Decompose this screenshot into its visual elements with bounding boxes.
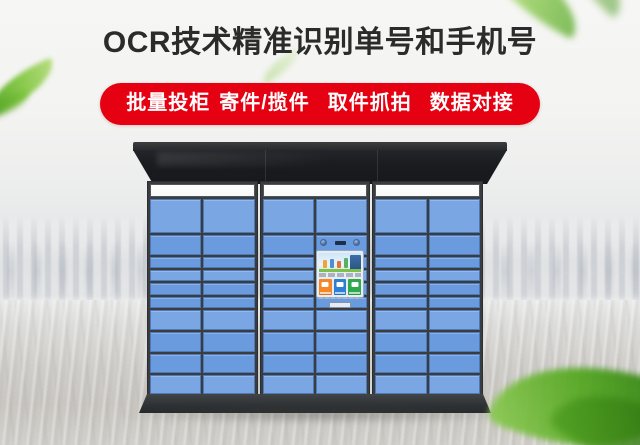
locker-door[interactable] bbox=[375, 354, 426, 373]
locker-door-column bbox=[375, 199, 426, 394]
screen-banner-image bbox=[319, 253, 361, 272]
camera-icon-right bbox=[353, 239, 360, 246]
locker-door[interactable] bbox=[429, 283, 480, 294]
camera-icon-left bbox=[320, 239, 327, 246]
screen-button[interactable] bbox=[319, 279, 332, 295]
screen-action-buttons bbox=[319, 279, 361, 295]
banner-grass bbox=[319, 269, 361, 272]
locker-door[interactable] bbox=[375, 270, 426, 281]
parcel-icon bbox=[322, 282, 329, 287]
screen-button-label bbox=[335, 292, 346, 294]
locker-door[interactable] bbox=[203, 270, 254, 281]
locker-door[interactable] bbox=[263, 332, 314, 352]
locker-door[interactable] bbox=[316, 332, 367, 352]
locker-door[interactable] bbox=[429, 270, 480, 281]
locker-door[interactable] bbox=[429, 354, 480, 373]
banner-figure-d bbox=[344, 258, 348, 268]
locker-door[interactable] bbox=[375, 283, 426, 294]
kiosk-touchscreen[interactable] bbox=[316, 250, 364, 298]
locker-door[interactable] bbox=[150, 297, 201, 308]
locker-door[interactable] bbox=[150, 270, 201, 281]
screen-button-label bbox=[349, 292, 360, 294]
locker-door[interactable] bbox=[316, 310, 367, 330]
locker-door-column bbox=[150, 199, 201, 394]
locker-body bbox=[147, 181, 483, 396]
locker-door[interactable] bbox=[263, 257, 314, 268]
locker-door[interactable] bbox=[203, 310, 254, 330]
screen-footer-text bbox=[319, 297, 361, 299]
locker-door[interactable] bbox=[203, 235, 254, 255]
locker-door[interactable] bbox=[203, 375, 254, 394]
locker-door[interactable] bbox=[150, 332, 201, 352]
locker-door[interactable] bbox=[203, 283, 254, 294]
locker-header-panel bbox=[375, 184, 480, 197]
locker-door[interactable] bbox=[316, 354, 367, 373]
locker-door[interactable] bbox=[375, 199, 426, 233]
locker-canopy bbox=[133, 142, 507, 184]
locker-door[interactable] bbox=[375, 235, 426, 255]
locker-door[interactable] bbox=[375, 310, 426, 330]
locker-kiosk[interactable] bbox=[316, 238, 364, 310]
locker-door[interactable] bbox=[150, 199, 201, 233]
locker-door[interactable] bbox=[429, 332, 480, 352]
screen-button[interactable] bbox=[334, 279, 347, 295]
locker-door[interactable] bbox=[429, 310, 480, 330]
banner-figure-c bbox=[337, 261, 341, 268]
locker-door[interactable] bbox=[263, 375, 314, 394]
locker-header-panel bbox=[150, 184, 255, 197]
locker-door[interactable] bbox=[263, 310, 314, 330]
locker-door-grid bbox=[150, 199, 255, 394]
locker-shadow bbox=[120, 408, 520, 424]
locker-door[interactable] bbox=[203, 257, 254, 268]
locker-door[interactable] bbox=[375, 257, 426, 268]
locker-door[interactable] bbox=[150, 257, 201, 268]
locker-door[interactable] bbox=[150, 283, 201, 294]
sensor-icon bbox=[335, 241, 346, 245]
screen-notice-text bbox=[319, 273, 361, 277]
promo-banner-image: OCR技术精准识别单号和手机号 批量投柜寄件/揽件取件抓拍数据对接 bbox=[0, 0, 640, 445]
canopy-highlight bbox=[157, 152, 457, 166]
locker-door[interactable] bbox=[263, 354, 314, 373]
locker-door[interactable] bbox=[203, 297, 254, 308]
canopy-top-edge bbox=[133, 142, 507, 151]
locker-door-column bbox=[263, 199, 314, 394]
card-slot[interactable] bbox=[329, 302, 351, 308]
parcel-icon bbox=[337, 282, 344, 287]
canopy-seam-2 bbox=[377, 150, 378, 184]
locker-door[interactable] bbox=[150, 375, 201, 394]
locker-door[interactable] bbox=[263, 199, 314, 233]
camera-row bbox=[320, 238, 360, 247]
locker-door[interactable] bbox=[263, 270, 314, 281]
locker-door[interactable] bbox=[429, 375, 480, 394]
locker-door[interactable] bbox=[429, 199, 480, 233]
parcel-icon bbox=[351, 282, 358, 287]
locker-door[interactable] bbox=[429, 235, 480, 255]
screen-button[interactable] bbox=[348, 279, 361, 295]
locker-door[interactable] bbox=[375, 297, 426, 308]
locker-door[interactable] bbox=[316, 375, 367, 394]
locker-door[interactable] bbox=[203, 199, 254, 233]
locker-door[interactable] bbox=[150, 354, 201, 373]
screen-button-label bbox=[320, 292, 331, 294]
locker-left-section bbox=[147, 181, 258, 396]
locker-door-grid bbox=[375, 199, 480, 394]
locker-door[interactable] bbox=[316, 199, 367, 233]
locker-right-section bbox=[372, 181, 483, 396]
banner-figure-b bbox=[330, 259, 334, 268]
locker-door[interactable] bbox=[203, 332, 254, 352]
locker-door[interactable] bbox=[429, 257, 480, 268]
locker-door[interactable] bbox=[263, 297, 314, 308]
smart-parcel-locker bbox=[0, 0, 640, 445]
locker-door[interactable] bbox=[150, 310, 201, 330]
locker-door[interactable] bbox=[263, 235, 314, 255]
locker-door-column bbox=[429, 199, 480, 394]
banner-figure-a bbox=[323, 260, 327, 268]
locker-door[interactable] bbox=[375, 375, 426, 394]
locker-door[interactable] bbox=[263, 283, 314, 294]
locker-door[interactable] bbox=[150, 235, 201, 255]
locker-door[interactable] bbox=[375, 332, 426, 352]
canopy-seam-1 bbox=[265, 150, 266, 184]
locker-door[interactable] bbox=[203, 354, 254, 373]
locker-header-panel bbox=[263, 184, 368, 197]
locker-door[interactable] bbox=[429, 297, 480, 308]
locker-door-column bbox=[203, 199, 254, 394]
